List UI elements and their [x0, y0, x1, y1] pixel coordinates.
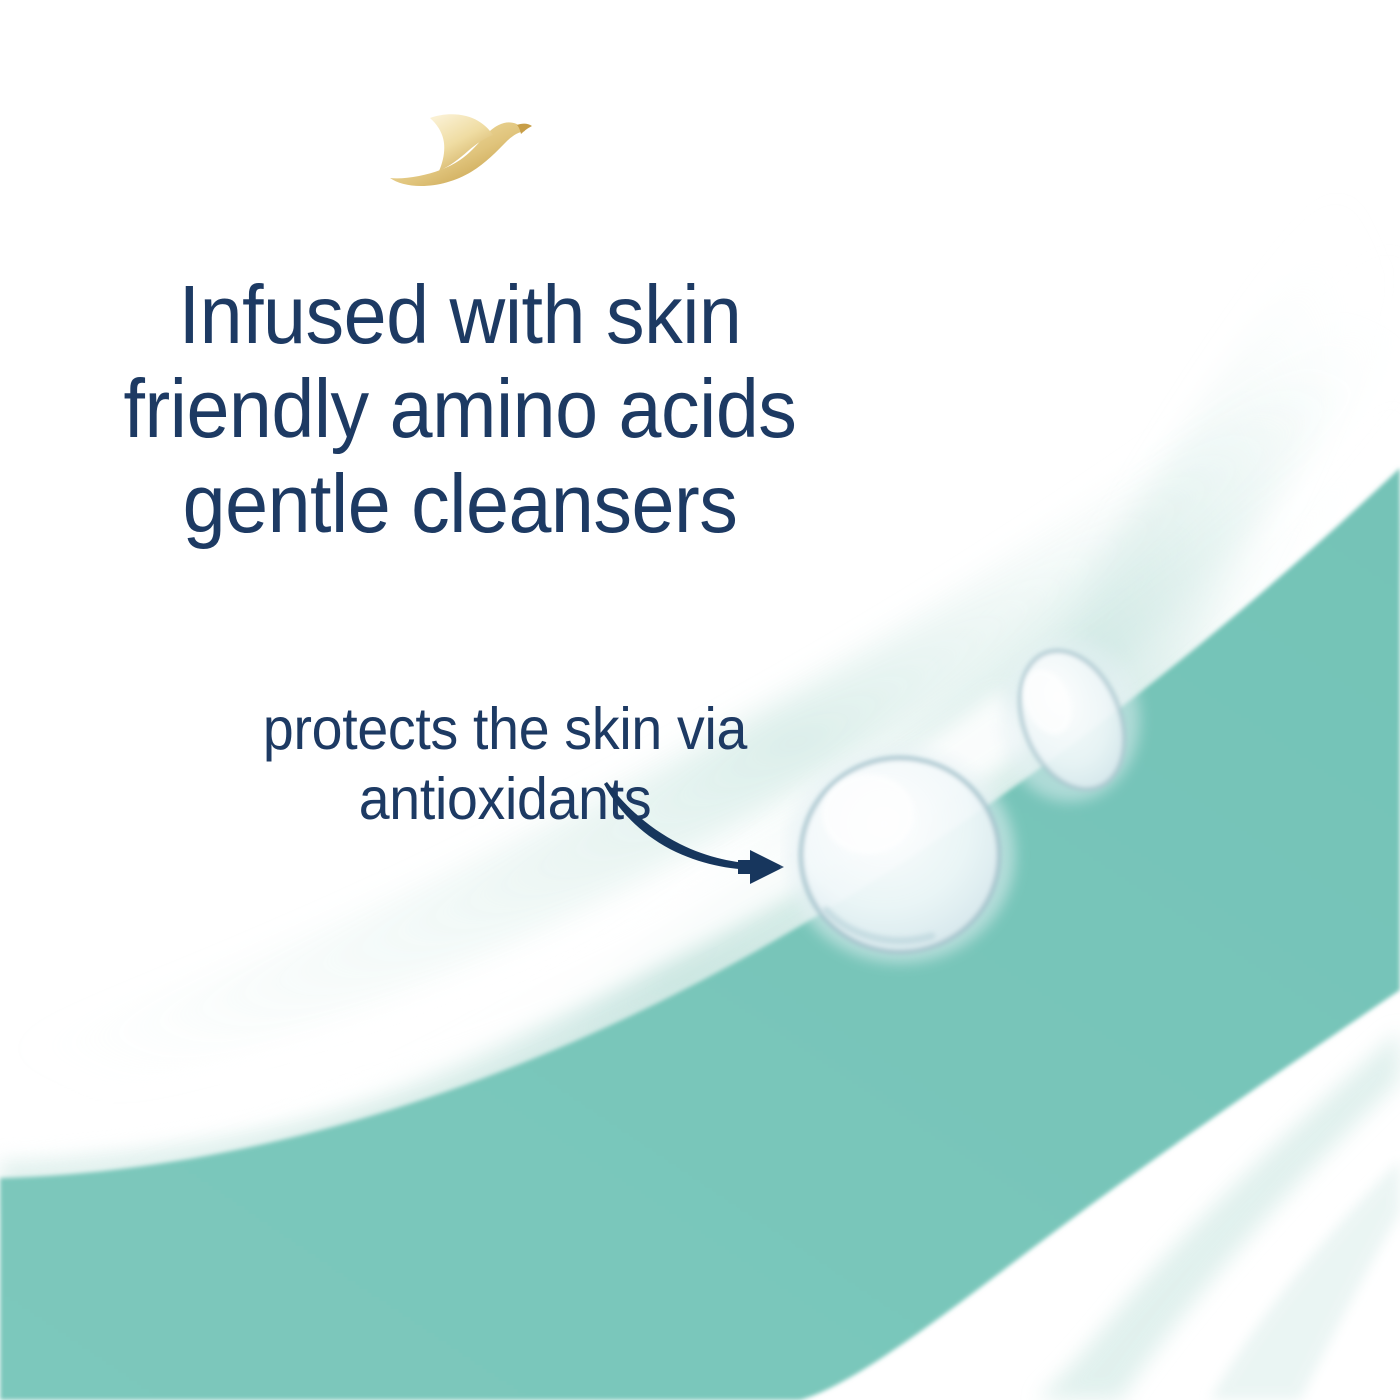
droplet-large-highlight	[822, 774, 914, 854]
content-layer: Infused with skin friendly amino acids g…	[0, 0, 1400, 1400]
promo-canvas: Infused with skin friendly amino acids g…	[0, 0, 1400, 1400]
headline-line-2: friendly amino acids	[32, 362, 888, 457]
arrow-shaft-path	[604, 782, 758, 870]
headline: Infused with skin friendly amino acids g…	[32, 268, 888, 552]
curved-arrow-right-icon	[580, 770, 810, 890]
brand-logo	[0, 104, 920, 195]
water-droplet-large	[801, 758, 999, 952]
headline-line-1: Infused with skin	[32, 268, 888, 363]
subheadline-line-1: protects the skin via	[115, 695, 895, 765]
arrow-head-path	[738, 850, 784, 884]
water-droplets-group	[780, 610, 1180, 990]
dove-bird-icon	[386, 104, 534, 190]
headline-line-3: gentle cleansers	[32, 457, 888, 552]
